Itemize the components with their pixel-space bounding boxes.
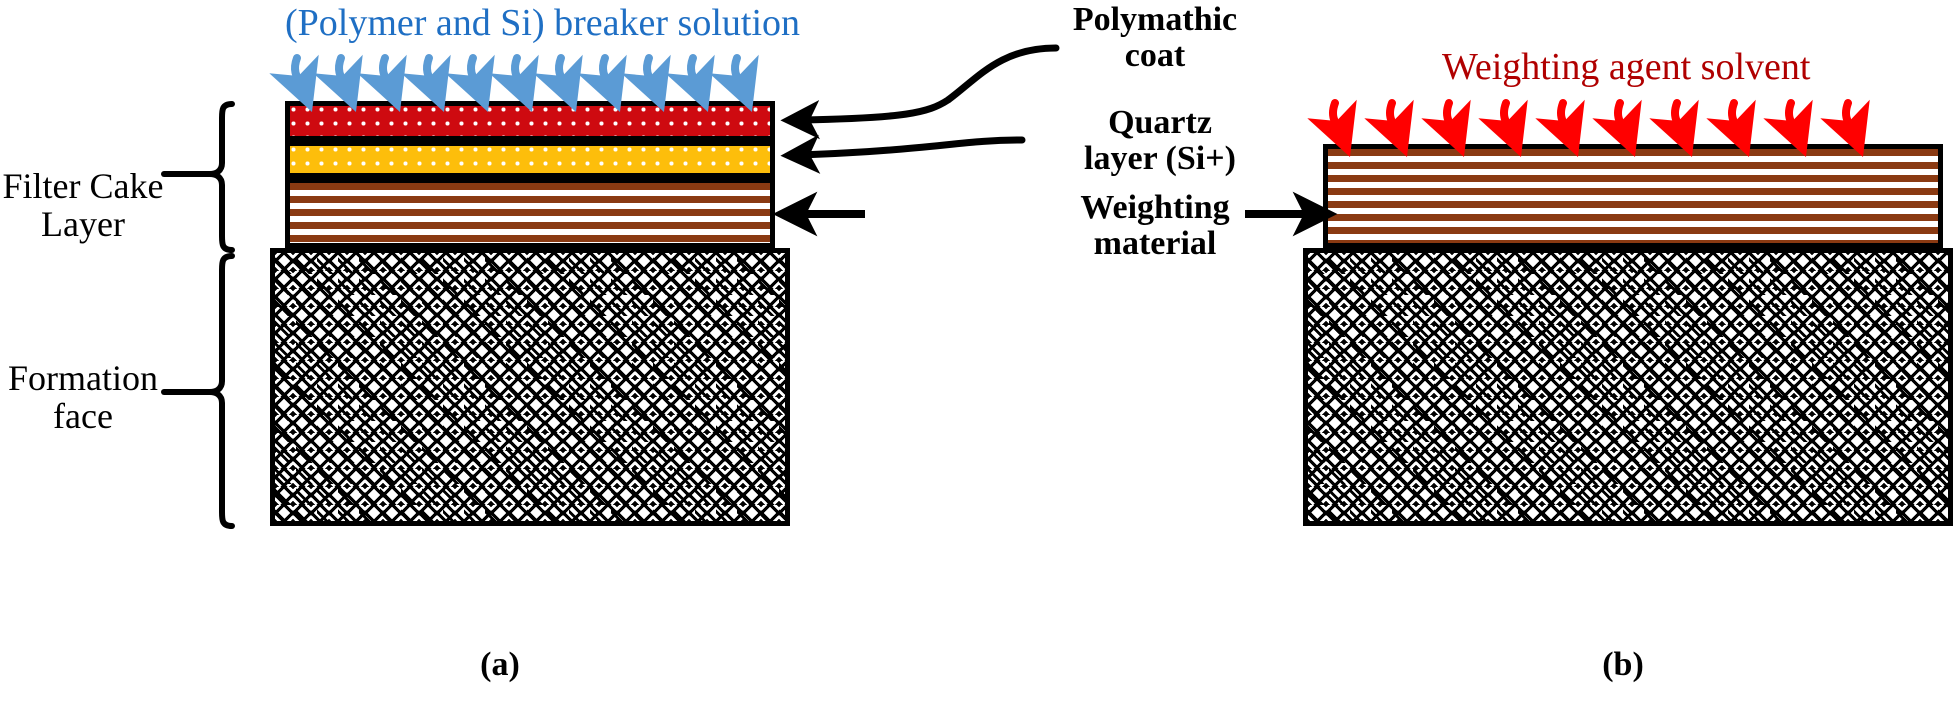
quartz-layer	[285, 141, 775, 178]
weighting-agent-solvent-label: Weighting agent solvent	[1442, 48, 1810, 88]
formation-face-block-a	[270, 248, 790, 526]
polymathic-coat-layer	[285, 101, 775, 141]
formation-face-brace	[210, 256, 232, 526]
weighting-material-layer-a	[285, 178, 775, 248]
breaker-solution-arrows	[295, 58, 743, 88]
polymathic-coat-label: Polymathic coat	[1040, 2, 1270, 73]
formation-face-block-b	[1303, 248, 1953, 526]
quartz-layer-label: Quartz layer (Si+)	[1035, 105, 1285, 176]
panel-b-caption: (b)	[1523, 647, 1723, 683]
panel-a-caption: (a)	[400, 647, 600, 683]
weighting-material-label: Weighting material	[1030, 190, 1280, 261]
breaker-solution-label: (Polymer and Si) breaker solution	[285, 4, 800, 44]
quartz-layer-pointer	[800, 140, 1022, 155]
weighting-material-layer-b	[1323, 144, 1943, 248]
filter-cake-brace	[210, 104, 232, 250]
formation-face-label: Formation face	[0, 360, 166, 436]
polymathic-coat-pointer	[800, 48, 1056, 120]
figure-canvas: (Polymer and Si) breaker solution Polyma…	[0, 0, 1956, 712]
filter-cake-layer-label: Filter Cake Layer	[0, 168, 166, 244]
weighting-agent-solvent-arrows	[1333, 103, 1854, 133]
